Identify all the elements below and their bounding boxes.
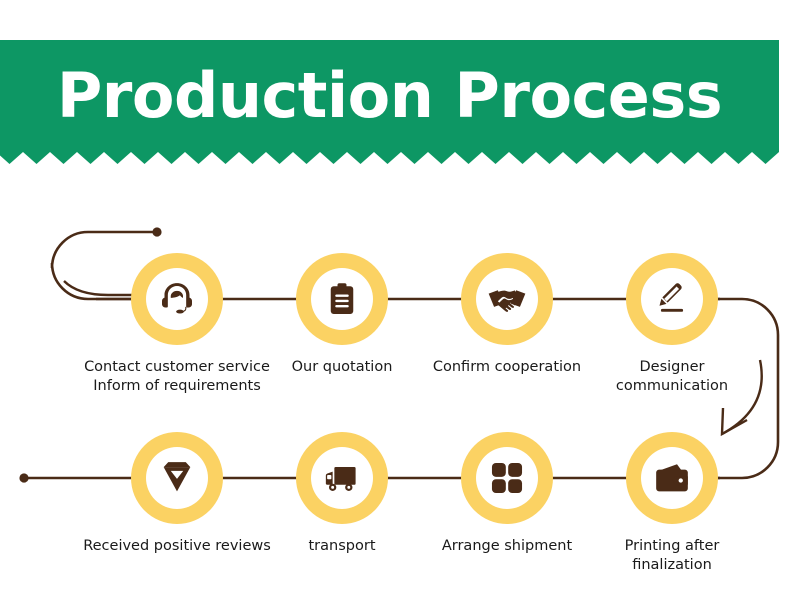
step-node-6[interactable]: Arrange shipment [432,432,582,556]
step-7-ring [296,432,388,524]
step-8-inner [146,447,208,509]
step-5-inner [641,447,703,509]
step-5-label: Printing after finalization [567,537,777,574]
step-1-ring [131,253,223,345]
delivery-truck-icon [321,461,363,495]
step-node-2[interactable]: Our quotation [267,253,417,377]
wallet-payment-icon [652,461,692,495]
step-8-ring [131,432,223,524]
package-boxes-icon [488,459,526,497]
pencil-design-icon [653,280,691,318]
headset-customer-service-icon [157,279,197,319]
step-6-inner [476,447,538,509]
step-node-5[interactable]: Printing after finalization [597,432,747,574]
step-5-ring [626,432,718,524]
step-3-inner [476,268,538,330]
step-4-ring [626,253,718,345]
clipboard-quotation-icon [324,281,360,317]
step-node-3[interactable]: Confirm cooperation [432,253,582,377]
step-1-inner [146,268,208,330]
step-2-ring [296,253,388,345]
start-dot-marker [152,227,161,236]
step-node-8[interactable]: Received positive reviews [102,432,252,556]
production-process-infographic: Production Process [0,0,790,602]
step-node-1[interactable]: Contact customer service Inform of requi… [102,253,252,395]
step-node-7[interactable]: transport [267,432,417,556]
step-4-label: Designer communication [567,358,777,395]
step-6-ring [461,432,553,524]
step-node-4[interactable]: Designer communication [597,253,747,395]
diamond-gem-icon [157,461,197,495]
step-3-ring [461,253,553,345]
end-dot-marker [19,473,28,482]
handshake-icon [487,279,527,319]
step-2-inner [311,268,373,330]
step-7-inner [311,447,373,509]
step-4-inner [641,268,703,330]
